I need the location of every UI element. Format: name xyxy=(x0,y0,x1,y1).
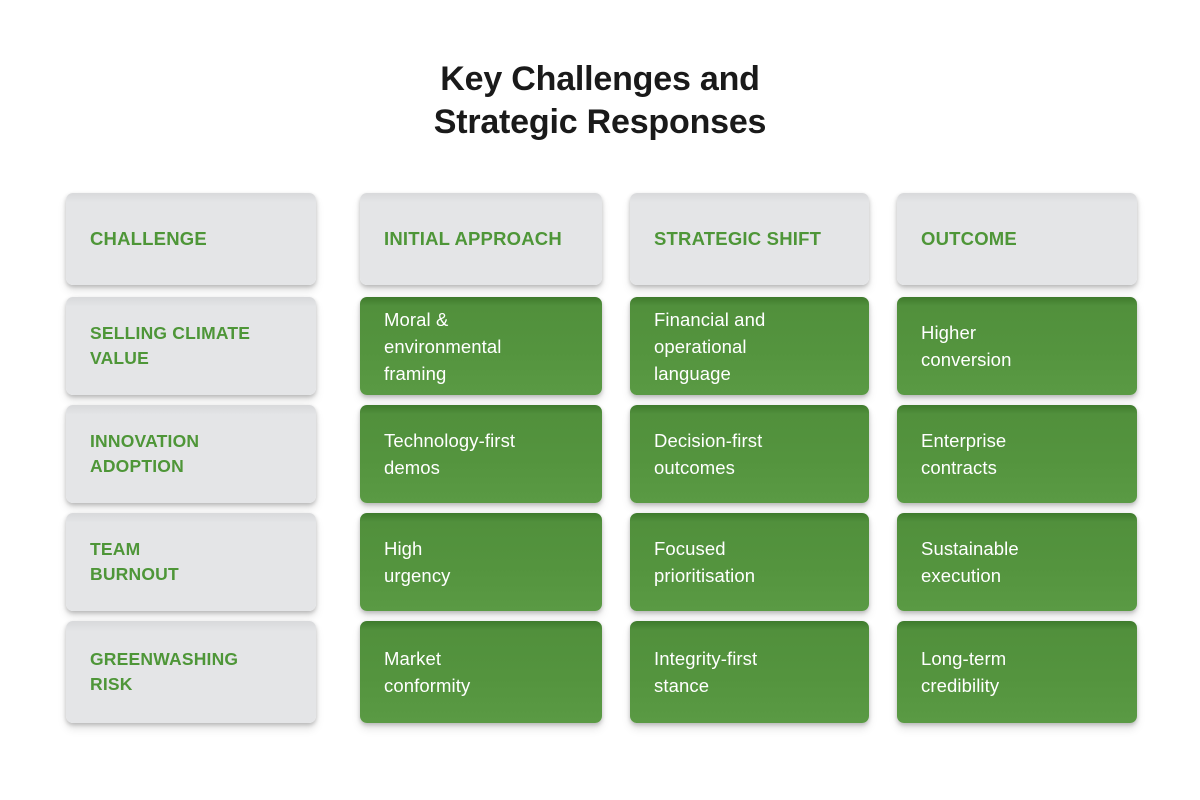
table-header-row: CHALLENGE INITIAL APPROACH STRATEGIC SHI… xyxy=(66,193,1137,285)
table-header-cell-outcome: OUTCOME xyxy=(897,193,1137,285)
outcome-cell: Higher conversion xyxy=(897,297,1137,395)
table-row: INNOVATION ADOPTION Technology-first dem… xyxy=(66,405,1137,503)
initial-approach-cell: Technology-first demos xyxy=(360,405,602,503)
initial-approach-cell: High urgency xyxy=(360,513,602,611)
comparison-table: CHALLENGE INITIAL APPROACH STRATEGIC SHI… xyxy=(66,193,1137,723)
outcome-text: Enterprise contracts xyxy=(921,427,1115,481)
page-title: Key Challenges and Strategic Responses xyxy=(0,58,1200,144)
column-header-label: INITIAL APPROACH xyxy=(384,227,580,251)
table-row: GREENWASHING RISK Market conformity Inte… xyxy=(66,621,1137,723)
table-header-cell-challenge: CHALLENGE xyxy=(66,193,316,285)
strategic-shift-text: Decision-first outcomes xyxy=(654,427,847,481)
challenge-cell: SELLING CLIMATE VALUE xyxy=(66,297,316,395)
outcome-text: Higher conversion xyxy=(921,319,1115,373)
column-header-label: STRATEGIC SHIFT xyxy=(654,227,847,251)
outcome-cell: Enterprise contracts xyxy=(897,405,1137,503)
table-header-cell-strategic-shift: STRATEGIC SHIFT xyxy=(630,193,869,285)
strategic-shift-text: Focused prioritisation xyxy=(654,535,847,589)
challenge-cell: TEAM BURNOUT xyxy=(66,513,316,611)
page-title-line-1: Key Challenges and xyxy=(0,58,1200,101)
challenge-label: INNOVATION ADOPTION xyxy=(90,429,294,479)
strategic-shift-cell: Decision-first outcomes xyxy=(630,405,869,503)
initial-approach-text: Technology-first demos xyxy=(384,427,580,481)
strategic-shift-text: Financial and operational language xyxy=(654,306,847,387)
page-title-line-2: Strategic Responses xyxy=(0,101,1200,144)
initial-approach-text: Market conformity xyxy=(384,645,580,699)
column-header-label: CHALLENGE xyxy=(90,227,294,251)
initial-approach-cell: Moral & environmental framing xyxy=(360,297,602,395)
outcome-text: Long-term credibility xyxy=(921,645,1115,699)
strategic-shift-text: Integrity-first stance xyxy=(654,645,847,699)
initial-approach-text: Moral & environmental framing xyxy=(384,306,580,387)
challenge-cell: INNOVATION ADOPTION xyxy=(66,405,316,503)
challenge-label: GREENWASHING RISK xyxy=(90,647,294,697)
challenge-cell: GREENWASHING RISK xyxy=(66,621,316,723)
outcome-cell: Sustainable execution xyxy=(897,513,1137,611)
table-header-cell-initial-approach: INITIAL APPROACH xyxy=(360,193,602,285)
strategic-shift-cell: Focused prioritisation xyxy=(630,513,869,611)
initial-approach-cell: Market conformity xyxy=(360,621,602,723)
strategic-shift-cell: Financial and operational language xyxy=(630,297,869,395)
challenge-label: TEAM BURNOUT xyxy=(90,537,294,587)
outcome-text: Sustainable execution xyxy=(921,535,1115,589)
slide-canvas: Key Challenges and Strategic Responses C… xyxy=(0,0,1200,800)
initial-approach-text: High urgency xyxy=(384,535,580,589)
strategic-shift-cell: Integrity-first stance xyxy=(630,621,869,723)
table-row: SELLING CLIMATE VALUE Moral & environmen… xyxy=(66,297,1137,395)
table-row: TEAM BURNOUT High urgency Focused priori… xyxy=(66,513,1137,611)
challenge-label: SELLING CLIMATE VALUE xyxy=(90,321,294,371)
outcome-cell: Long-term credibility xyxy=(897,621,1137,723)
column-header-label: OUTCOME xyxy=(921,227,1115,251)
